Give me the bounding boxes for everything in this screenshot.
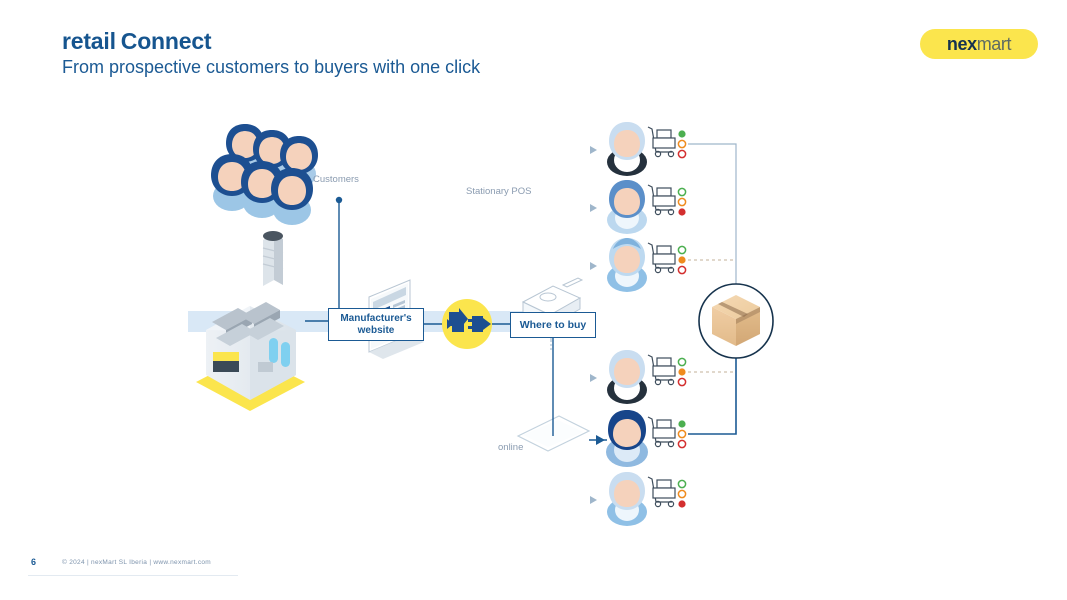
retailer-row-6	[590, 472, 686, 526]
footer-divider	[28, 575, 238, 576]
retailer-row-3	[590, 238, 736, 292]
diagram-canvas: Customers Stationary POS online Manufact…	[0, 90, 1067, 560]
nexmart-logo: nexmart	[920, 29, 1038, 59]
line-online-to-retailer	[589, 435, 607, 445]
footer-copyright: © 2024 | nexMart SL Iberia | www.nexmart…	[62, 559, 211, 566]
page-title: retailConnect	[62, 28, 211, 55]
page-title-part1: retail	[62, 28, 116, 54]
label-stationary-pos: Stationary POS	[466, 186, 531, 197]
customers-group-illustration	[211, 124, 318, 225]
retailer-row-4	[590, 350, 736, 404]
page-subtitle: From prospective customers to buyers wit…	[62, 57, 480, 78]
node-where-to-buy[interactable]: Where to buy	[510, 312, 596, 338]
line-customers-to-website	[336, 197, 342, 308]
page-title-part2: Connect	[116, 28, 212, 54]
logo-text-nex: nex	[947, 34, 977, 55]
label-online: online	[498, 442, 523, 453]
plug-connector-icon	[442, 299, 492, 349]
node-manufacturer-website[interactable]: Manufacturer's website	[328, 308, 424, 341]
page-number: 6	[31, 557, 36, 567]
label-customers: Customers	[313, 174, 359, 185]
retailer-row-2	[590, 180, 686, 234]
logo-text-mart: mart	[977, 34, 1011, 55]
slide-root: retailConnect From prospective customers…	[0, 0, 1067, 600]
